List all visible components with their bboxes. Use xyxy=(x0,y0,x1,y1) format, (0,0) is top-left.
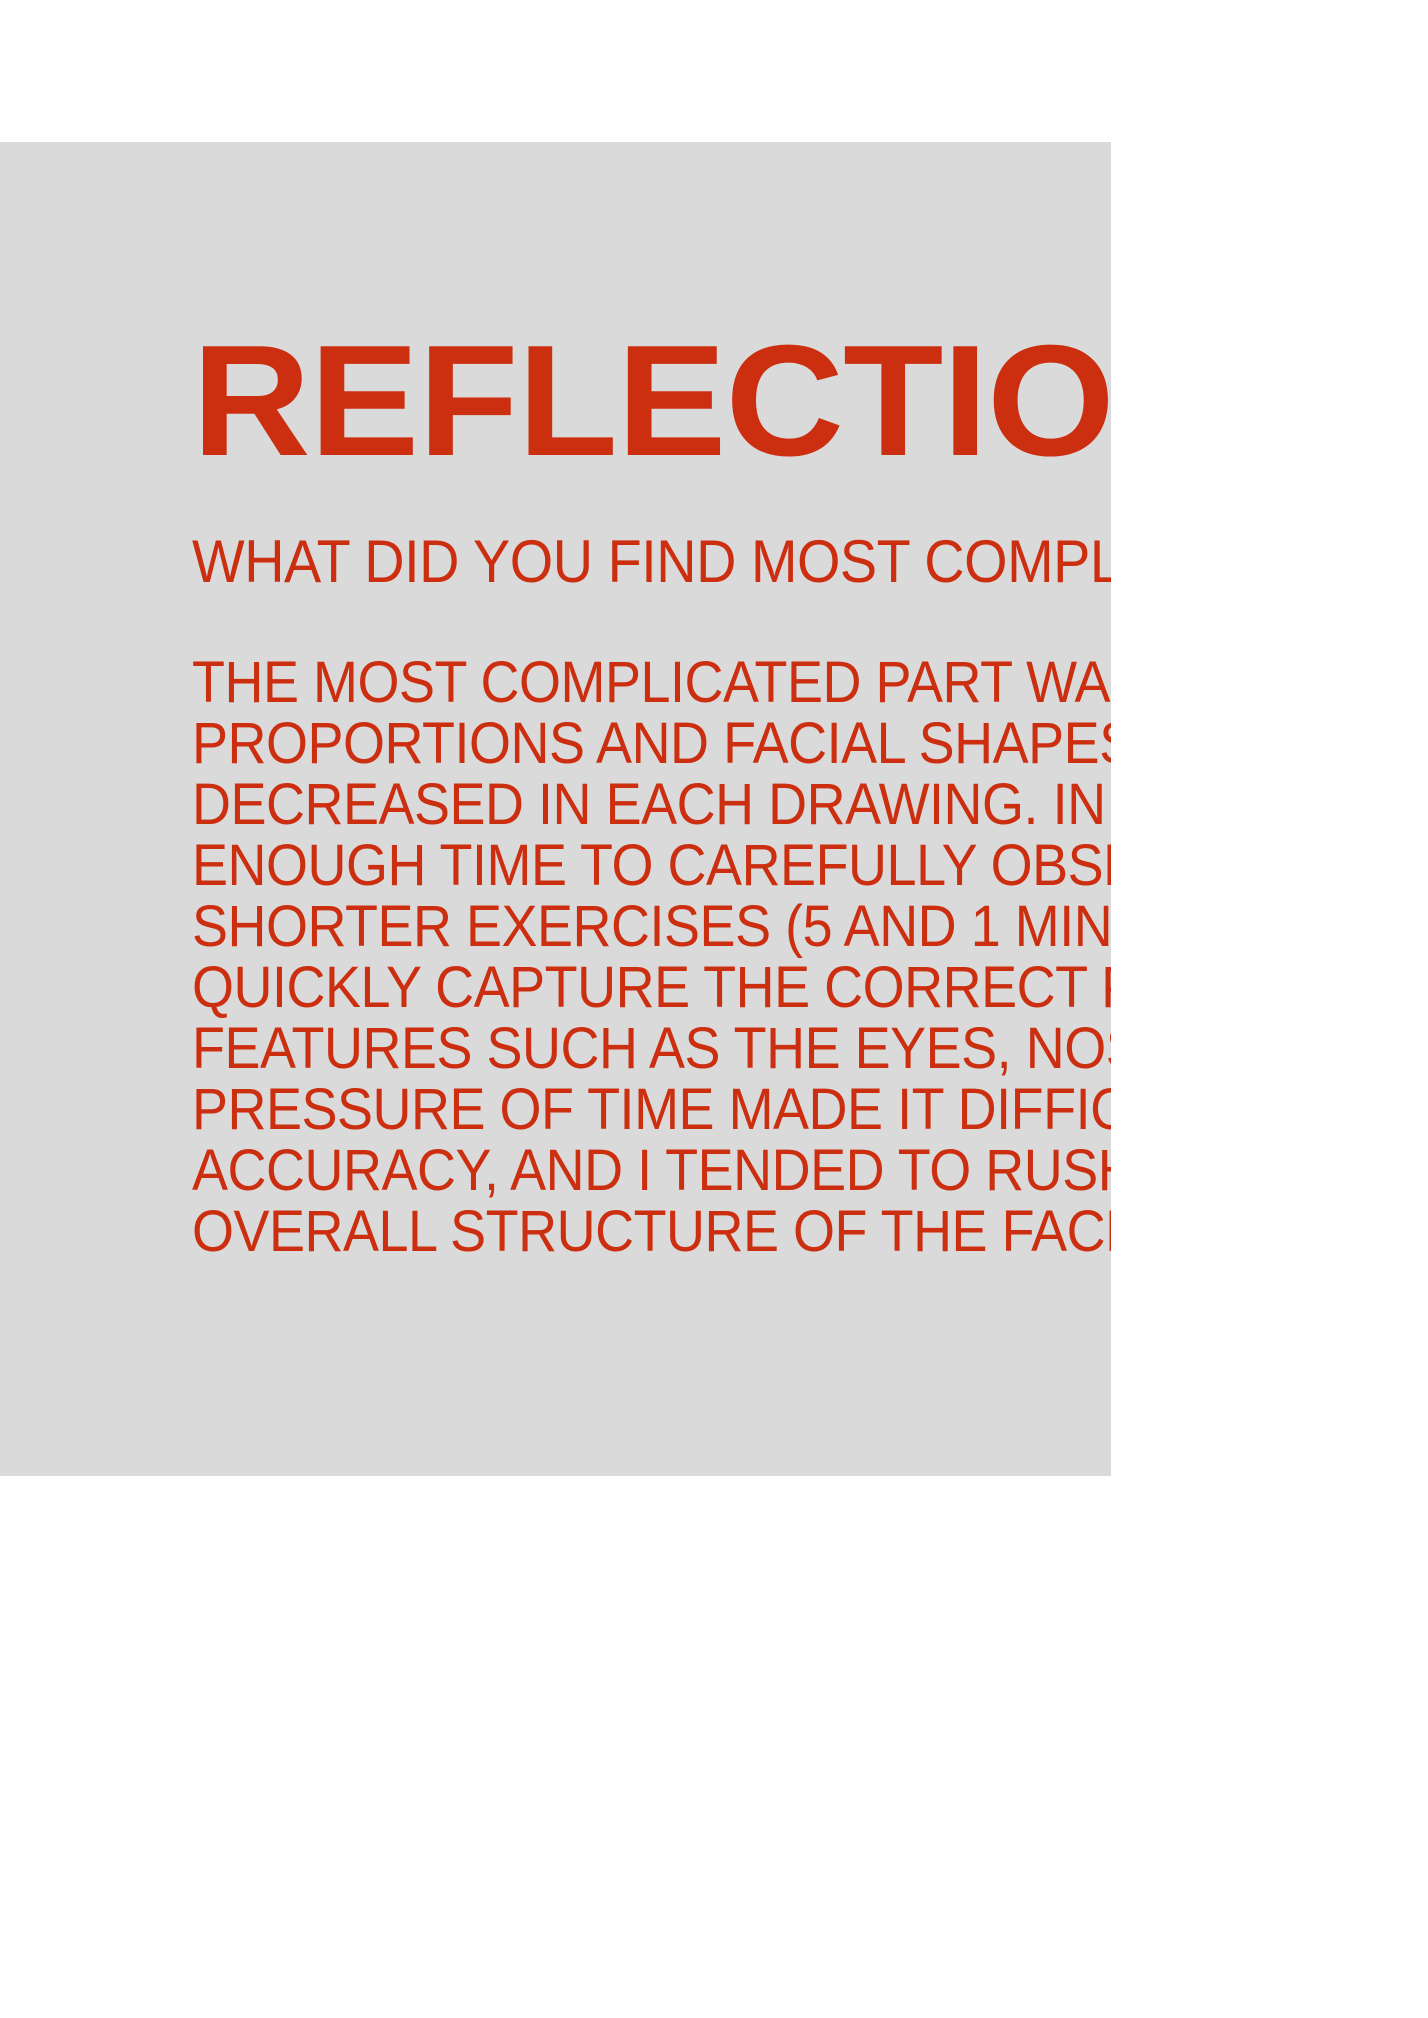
reflection-answer-body: THE MOST COMPLICATED PART WAS KEEPING TH… xyxy=(192,652,1111,1262)
body-line: PROPORTIONS AND FACIAL SHAPES ACCURATE A… xyxy=(192,713,1111,774)
body-line: PRESSURE OF TIME MADE IT DIFFICULT TO BA… xyxy=(192,1079,1111,1140)
body-line: THE MOST COMPLICATED PART WAS KEEPING TH… xyxy=(192,652,1111,713)
page-canvas: REFLECTION WHAT DID YOU FIND MOST COMPLI… xyxy=(0,0,1428,2018)
body-line: ACCURACY, AND I TENDED TO RUSH, WHICH AF… xyxy=(192,1140,1111,1201)
reflection-question: WHAT DID YOU FIND MOST COMPLICATED? xyxy=(192,532,1111,592)
body-line: SHORTER EXERCISES (5 AND 1 MINUTE) IT WA… xyxy=(192,896,1111,957)
body-line: DECREASED IN EACH DRAWING. IN THE 10-MIN… xyxy=(192,774,1111,835)
body-line: ENOUGH TIME TO CAREFULLY OBSERVE AND COR… xyxy=(192,835,1111,896)
reflection-slide: REFLECTION WHAT DID YOU FIND MOST COMPLI… xyxy=(0,142,1111,1476)
body-line: FEATURES SUCH AS THE EYES, NOSE AND MOUT… xyxy=(192,1018,1111,1079)
body-line: QUICKLY CAPTURE THE CORRECT PLACEMENT AN… xyxy=(192,957,1111,1018)
body-line: OVERALL STRUCTURE OF THE FACE. xyxy=(192,1201,1111,1262)
page-title: REFLECTION xyxy=(192,340,1111,463)
